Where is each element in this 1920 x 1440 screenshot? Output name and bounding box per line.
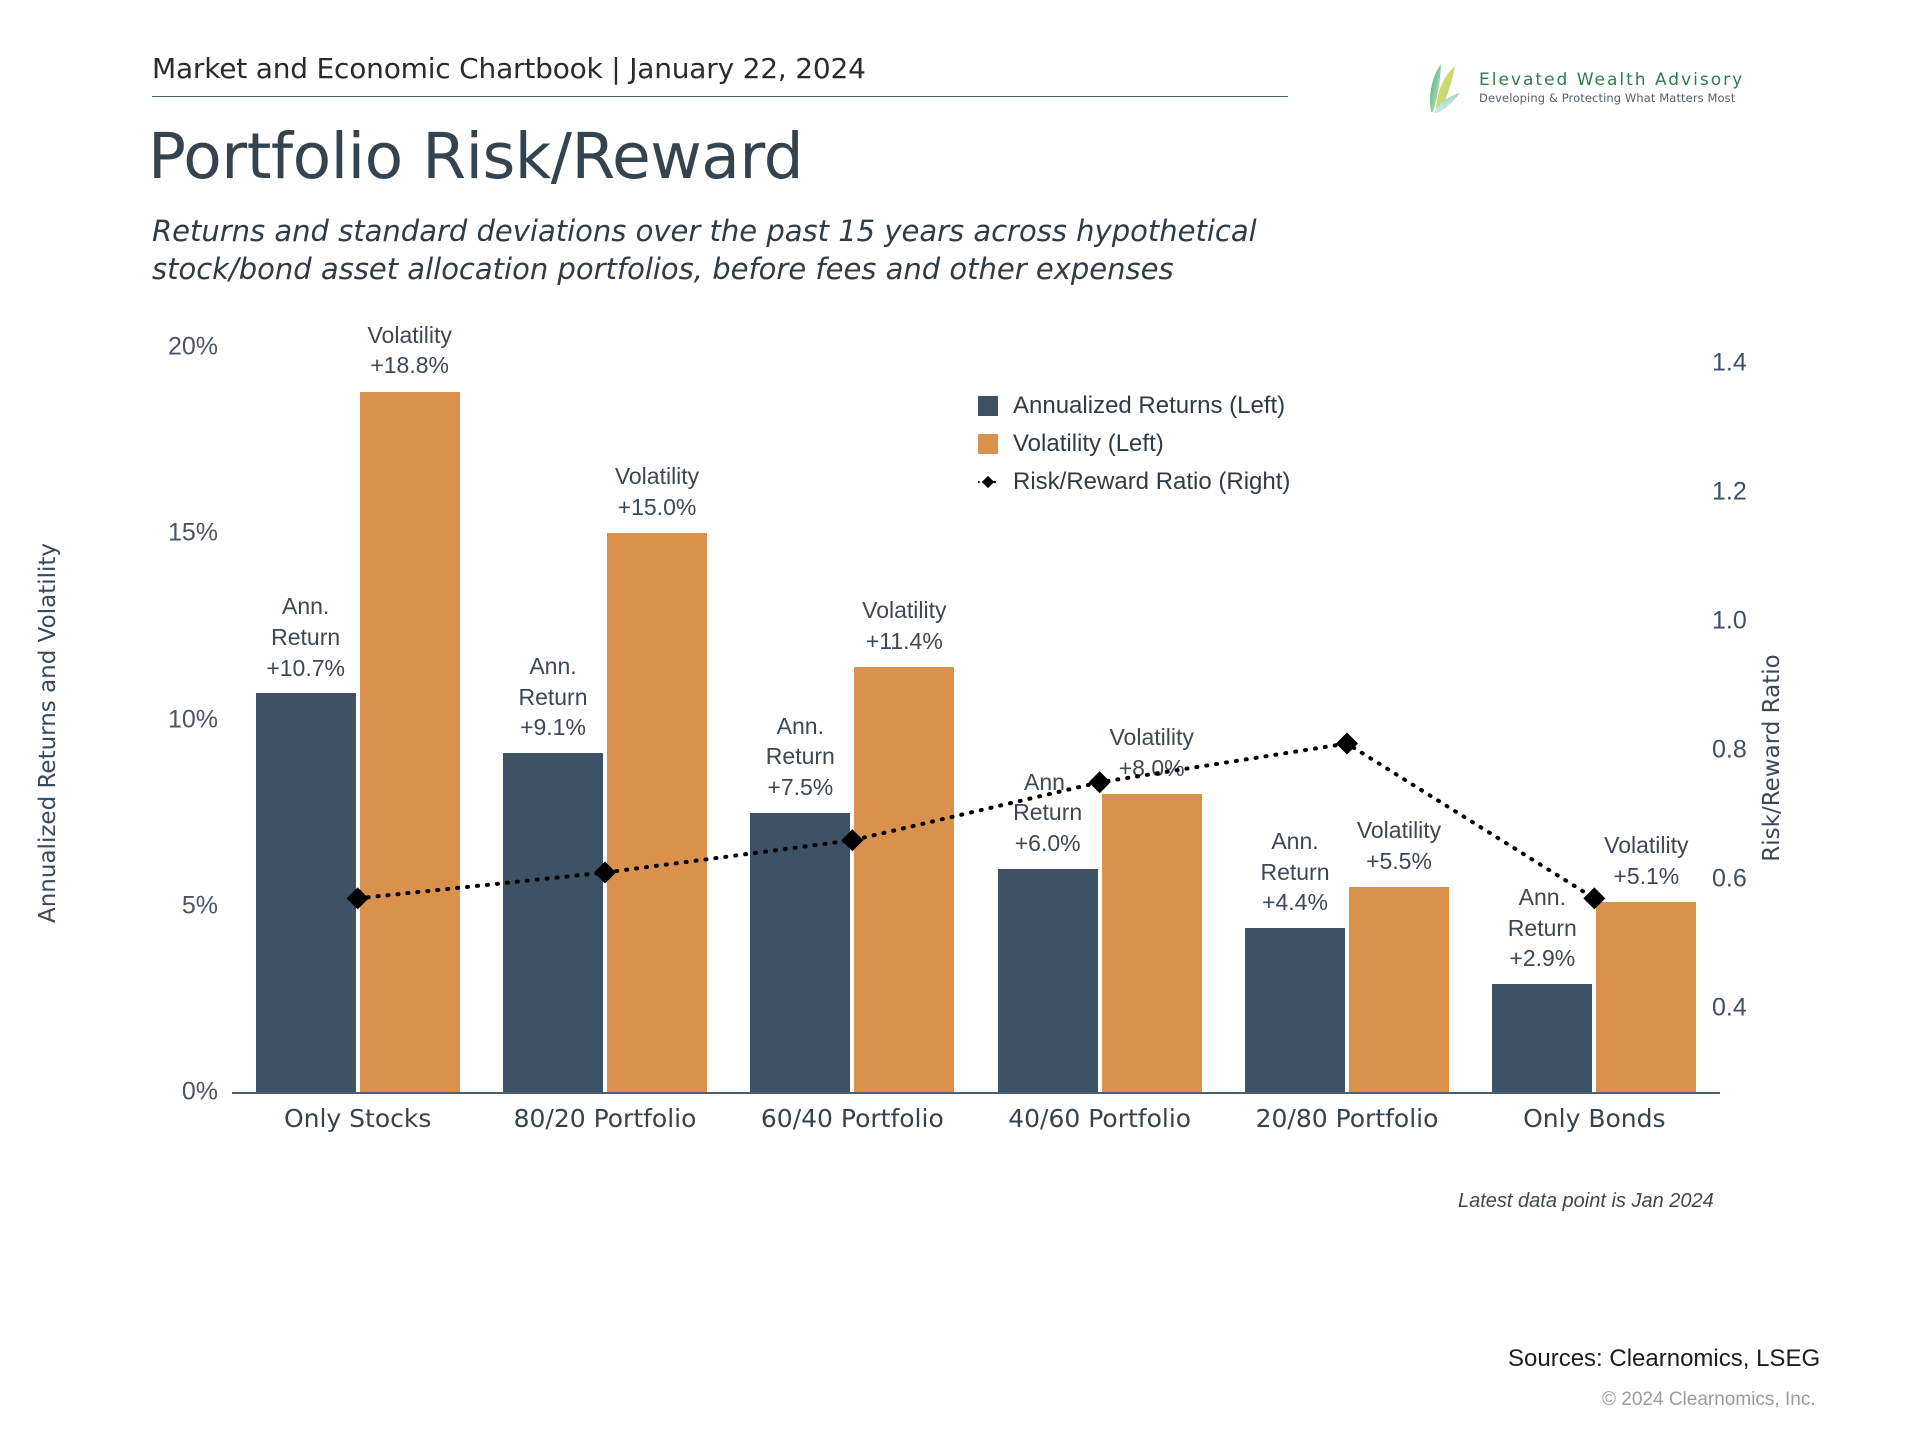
latest-data-note: Latest data point is Jan 2024	[1458, 1190, 1714, 1213]
legend-item[interactable]: Annualized Returns (Left)	[978, 392, 1290, 420]
right-axis-tick: 1.4	[1712, 349, 1747, 378]
bar-annualized-return	[256, 693, 356, 1092]
bar-volatility	[854, 667, 954, 1092]
legend-line-marker-icon	[978, 472, 998, 492]
bar-volatility	[1102, 794, 1202, 1092]
right-axis-tick: 1.0	[1712, 607, 1747, 636]
sources-note: Sources: Clearnomics, LSEG	[1508, 1345, 1820, 1373]
x-axis-line	[232, 1092, 1720, 1094]
chart-legend: Annualized Returns (Left)Volatility (Lef…	[978, 392, 1290, 496]
bar-volatility	[607, 533, 707, 1092]
label-volatility: Volatility+8.0%	[1109, 722, 1193, 783]
x-axis-tick-label: 60/40 Portfolio	[761, 1104, 944, 1133]
left-axis-title: Annualized Returns and Volatility	[35, 473, 61, 993]
bar-volatility	[360, 392, 460, 1092]
label-annualized-return: Ann.Return+4.4%	[1260, 826, 1329, 918]
legend-item[interactable]: Volatility (Left)	[978, 430, 1290, 458]
left-axis-tick: 0%	[108, 1078, 218, 1107]
legend-item-label: Annualized Returns (Left)	[1013, 392, 1285, 420]
left-axis-tick: 5%	[108, 891, 218, 920]
copyright-note: © 2024 Clearnomics, Inc.	[1602, 1389, 1816, 1411]
risk-reward-diamond-marker	[1089, 771, 1111, 793]
left-axis-tick: 15%	[108, 519, 218, 548]
label-volatility: Volatility+18.8%	[367, 320, 451, 381]
left-axis-tick: 10%	[108, 705, 218, 734]
label-volatility: Volatility+15.0%	[615, 461, 699, 522]
legend-color-swatch	[978, 396, 998, 416]
x-axis-tick-label: Only Bonds	[1523, 1104, 1665, 1133]
right-axis-tick: 0.6	[1712, 865, 1747, 894]
bar-annualized-return	[1492, 984, 1592, 1092]
label-annualized-return: Ann.Return+2.9%	[1508, 882, 1577, 974]
bar-volatility	[1596, 902, 1696, 1092]
label-annualized-return: Ann.Return+9.1%	[518, 651, 587, 743]
portfolio-risk-reward-chart: Annualized Returns and Volatility Risk/R…	[0, 0, 1920, 1440]
bar-annualized-return	[998, 869, 1098, 1093]
right-axis-title: Risk/Reward Ratio	[1759, 548, 1785, 968]
label-volatility: Volatility+5.5%	[1357, 815, 1441, 876]
risk-reward-diamond-marker	[1336, 733, 1358, 755]
label-volatility: Volatility+5.1%	[1604, 830, 1688, 891]
legend-item-label: Volatility (Left)	[1013, 430, 1164, 458]
right-axis-tick: 0.8	[1712, 736, 1747, 765]
x-axis-tick-label: Only Stocks	[284, 1104, 431, 1133]
label-annualized-return: Ann.Return+10.7%	[266, 591, 345, 683]
legend-color-swatch	[978, 434, 998, 454]
right-axis-tick: 0.4	[1712, 994, 1747, 1023]
legend-item-label: Risk/Reward Ratio (Right)	[1013, 468, 1290, 496]
right-axis-tick: 1.2	[1712, 478, 1747, 507]
bar-volatility	[1349, 887, 1449, 1092]
label-annualized-return: Ann.Return+7.5%	[766, 711, 835, 803]
label-annualized-return: Ann.Return+6.0%	[1013, 767, 1082, 859]
bar-annualized-return	[750, 813, 850, 1092]
label-volatility: Volatility+11.4%	[862, 595, 946, 656]
x-axis-tick-label: 20/80 Portfolio	[1256, 1104, 1439, 1133]
legend-item[interactable]: Risk/Reward Ratio (Right)	[978, 468, 1290, 496]
bar-annualized-return	[503, 753, 603, 1092]
left-axis-tick: 20%	[108, 333, 218, 362]
bar-annualized-return	[1245, 928, 1345, 1092]
x-axis-tick-label: 40/60 Portfolio	[1008, 1104, 1191, 1133]
x-axis-tick-label: 80/20 Portfolio	[514, 1104, 697, 1133]
